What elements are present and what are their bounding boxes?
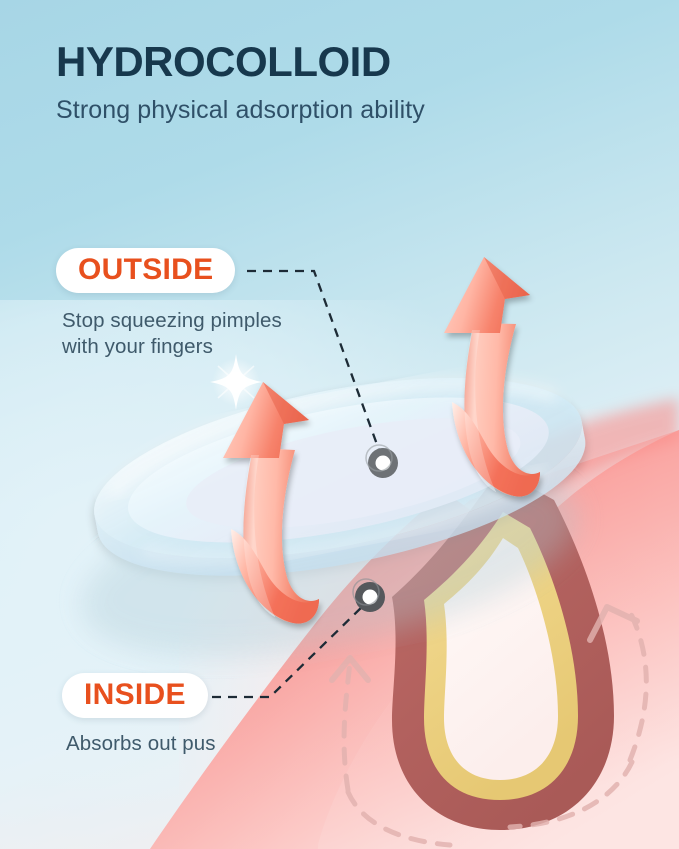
callout-badge-outside: OUTSIDE — [56, 248, 235, 293]
header: HYDROCOLLOID Strong physical adsorption … — [56, 40, 616, 125]
callout-marker-dot-inside — [353, 579, 385, 612]
callout-label-outside: OUTSIDE — [78, 253, 213, 286]
callout-description-outside: Stop squeezing pimples with your fingers — [62, 308, 282, 359]
adsorption-arrow-left — [223, 382, 319, 624]
callout-label-inside: INSIDE — [84, 678, 186, 711]
callout-badge-inside: INSIDE — [62, 673, 208, 718]
infographic-poster: HYDROCOLLOID Strong physical adsorption … — [0, 0, 679, 849]
hydrocolloid-patch — [67, 344, 600, 688]
sparkle-icon — [210, 354, 262, 410]
adsorption-arrow-right — [444, 257, 540, 497]
page-subtitle: Strong physical adsorption ability — [56, 96, 616, 125]
pore-follicle — [392, 470, 614, 830]
background-pink-wash — [179, 409, 679, 849]
callout-description-inside: Absorbs out pus — [66, 731, 216, 757]
background-blue-wash — [0, 300, 520, 849]
page-title: HYDROCOLLOID — [56, 40, 616, 84]
callout-marker-dot-outside — [366, 445, 398, 478]
skin-cross-section — [150, 398, 679, 849]
pus-flow-dashed-arrows — [332, 607, 646, 845]
illustration — [0, 0, 679, 849]
